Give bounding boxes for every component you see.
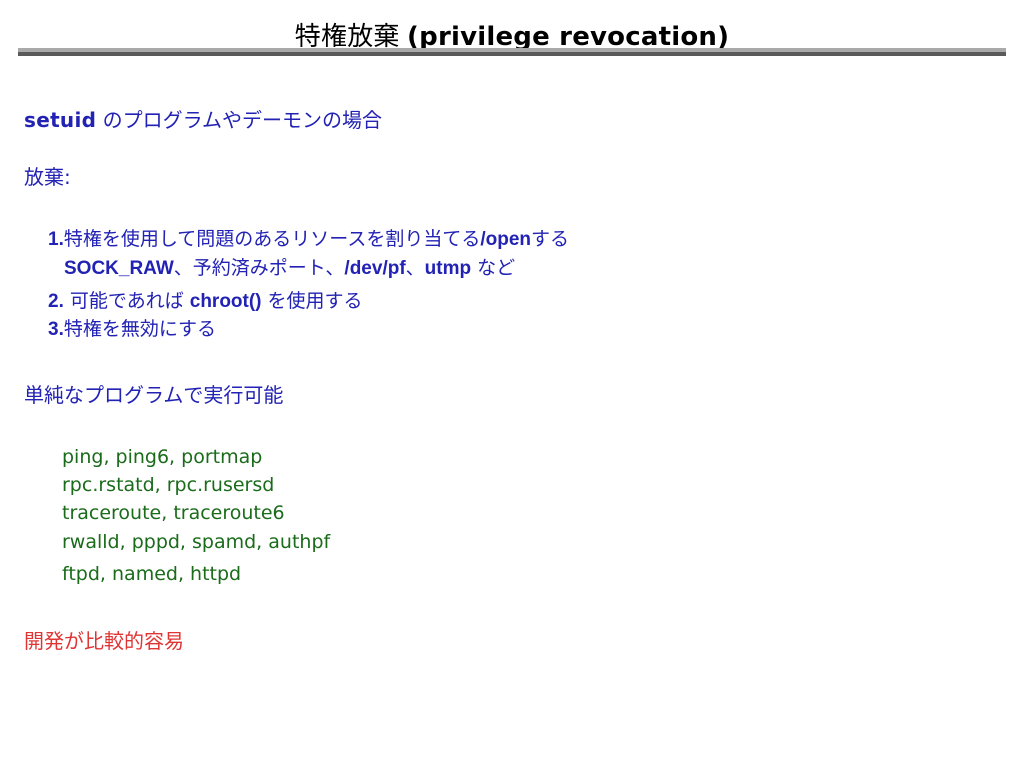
list-item-text-after: を使用する — [262, 290, 363, 312]
list-item-text-before: 可能であれば — [64, 290, 190, 312]
intro-rest: のプログラムやデーモンの場合 — [96, 108, 382, 132]
list-item: 2. 可能であれば chroot() を使用する — [48, 286, 363, 313]
sub-code-utmp: utmp — [425, 258, 471, 279]
program-line: ftpd, named, httpd — [62, 563, 241, 585]
list-item: 1.特権を使用して問題のあるリソースを割り当てる/openする — [48, 224, 569, 251]
sub-code-sock-raw: SOCK_RAW — [64, 258, 174, 279]
list-item-text-before: 特権を無効にする — [64, 318, 216, 340]
sub-sep-2: 、 — [406, 257, 425, 279]
program-line: traceroute, traceroute6 — [62, 502, 285, 524]
list-item-code: chroot() — [190, 291, 262, 312]
slide-body: setuid のプログラムやデーモンの場合 放棄: 1.特権を使用して問題のある… — [0, 0, 1024, 768]
program-line: rpc.rstatd, rpc.rusersd — [62, 474, 274, 496]
list-item-number: 3. — [48, 319, 64, 340]
closing-note: 開発が比較的容易 — [24, 625, 184, 654]
program-line: ping, ping6, portmap — [62, 446, 262, 468]
sub-code-dev-pf: /dev/pf — [344, 258, 405, 279]
list-item: 3.特権を無効にする — [48, 314, 216, 341]
list-item-text-before: 特権を使用して問題のあるリソースを割り当てる — [64, 228, 480, 250]
list-item-text-after: する — [531, 228, 569, 250]
intro-line: setuid のプログラムやデーモンの場合 — [24, 104, 382, 133]
program-line: rwalld, pppd, spamd, authpf — [62, 531, 330, 553]
section-label: 放棄: — [24, 161, 71, 190]
intro-keyword: setuid — [24, 108, 96, 132]
list-item-number: 2. — [48, 291, 64, 312]
list-item-number: 1. — [48, 229, 64, 250]
list-item-code: /open — [480, 229, 531, 250]
list-item-sub-line: SOCK_RAW、予約済みポート、/dev/pf、utmp など — [64, 253, 515, 280]
sub-tail: など — [471, 257, 515, 279]
simple-programs-heading: 単純なプログラムで実行可能 — [24, 379, 283, 408]
sub-sep-1: 、予約済みポート、 — [174, 257, 345, 279]
